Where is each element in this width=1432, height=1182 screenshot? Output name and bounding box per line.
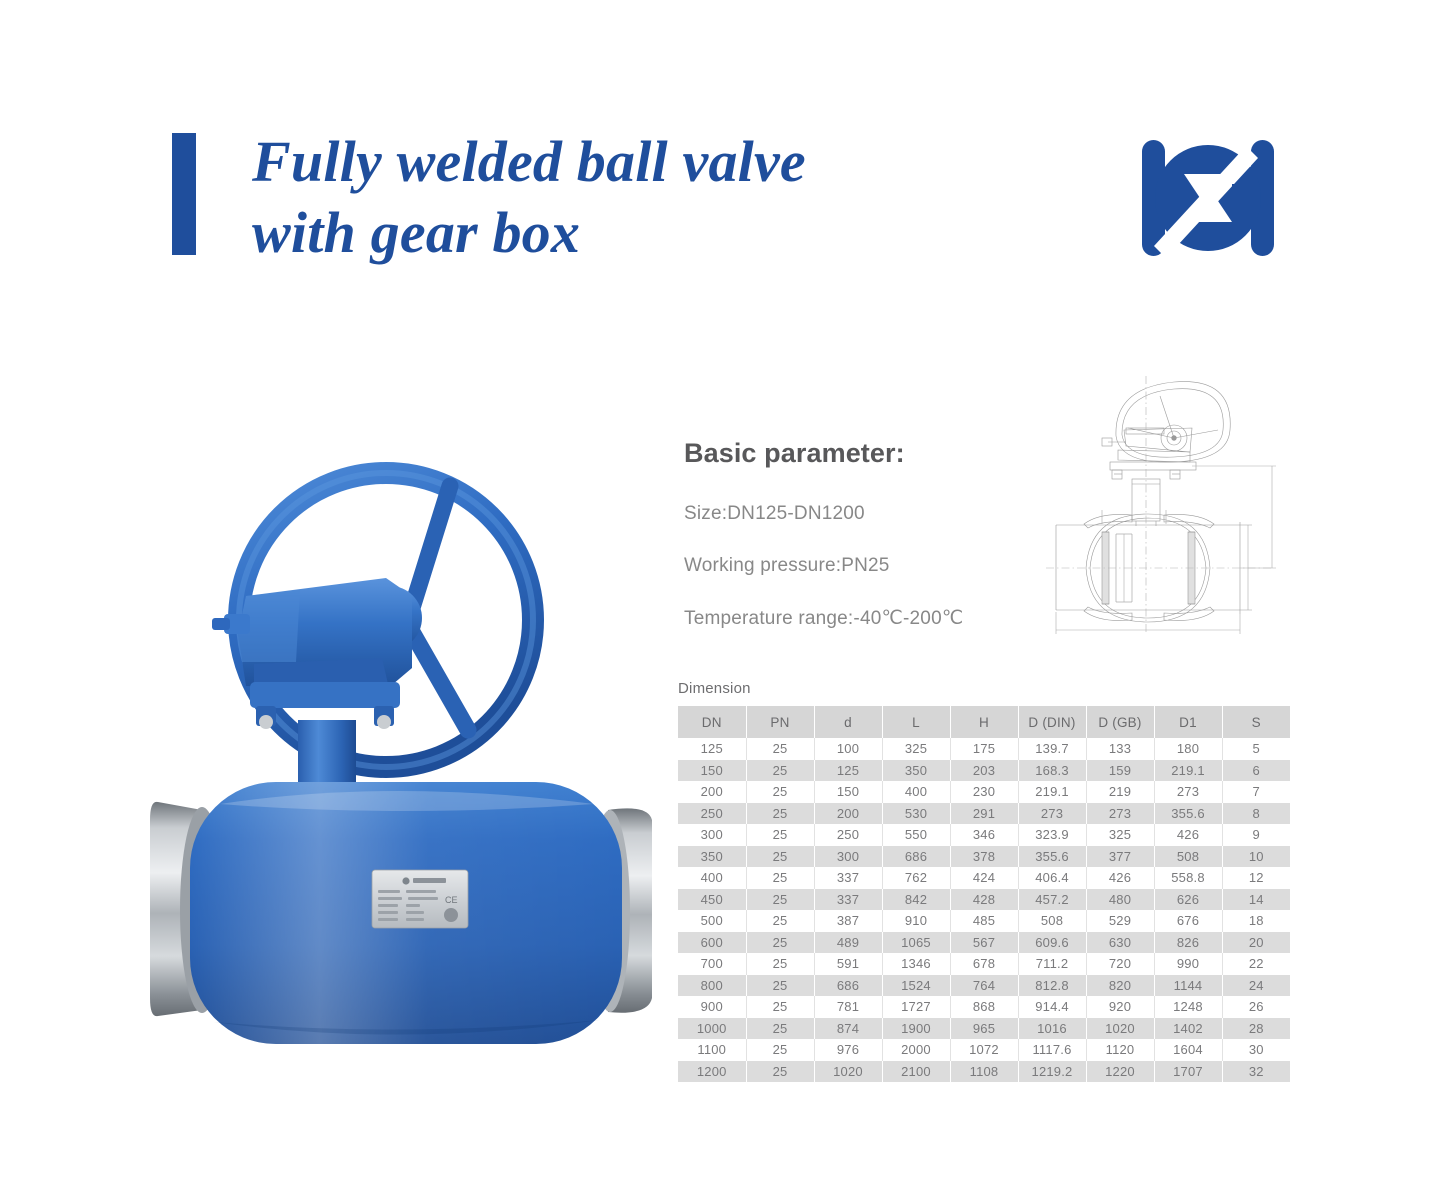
table-cell: 150 [678,760,746,782]
table-cell: 25 [746,760,814,782]
table-cell: 1402 [1154,1018,1222,1040]
table-cell: 630 [1086,932,1154,954]
table-cell: 1707 [1154,1061,1222,1083]
table-cell: 25 [746,1018,814,1040]
table-cell: 350 [882,760,950,782]
column-header-h: H [950,706,1018,738]
table-cell: 25 [746,975,814,997]
table-cell: 300 [678,824,746,846]
table-cell: 25 [746,846,814,868]
table-row: 100025874190096510161020140228 [678,1018,1290,1040]
table-cell: 200 [678,781,746,803]
parameter-working-pressure: Working pressure:PN25 [684,555,1084,577]
table-cell: 25 [746,738,814,760]
page-title-line-1: Fully welded ball valve [252,127,1072,198]
table-header-row: DN PN d L H D (DIN) D (GB) D1 S [678,706,1290,738]
table-cell: 346 [950,824,1018,846]
table-cell: 686 [882,846,950,868]
table-cell: 10 [1222,846,1290,868]
table-cell: 508 [1018,910,1086,932]
table-cell: 426 [1154,824,1222,846]
table-cell: 567 [950,932,1018,954]
column-header-pn: PN [746,706,814,738]
column-header-s: S [1222,706,1290,738]
table-cell: 910 [882,910,950,932]
dimension-table: DN PN d L H D (DIN) D (GB) D1 S 12525100… [678,706,1290,1082]
product-photo: CE [150,400,660,1060]
drawing-centerlines [1046,376,1272,634]
table-cell: 219.1 [1154,760,1222,782]
table-cell: 325 [882,738,950,760]
table-cell: 378 [950,846,1018,868]
table-cell: 558.8 [1154,867,1222,889]
table-cell: 626 [1154,889,1222,911]
table-cell: 1144 [1154,975,1222,997]
table-cell: 426 [1086,867,1154,889]
table-cell: 1120 [1086,1039,1154,1061]
table-cell: 820 [1086,975,1154,997]
table-cell: 900 [678,996,746,1018]
table-cell: 273 [1018,803,1086,825]
table-cell: 1000 [678,1018,746,1040]
technical-drawing [1040,372,1340,644]
table-cell: 1100 [678,1039,746,1061]
table-cell: 450 [678,889,746,911]
table-cell: 133 [1086,738,1154,760]
table-cell: 485 [950,910,1018,932]
table-cell: 965 [950,1018,1018,1040]
table-cell: 25 [746,824,814,846]
table-cell: 428 [950,889,1018,911]
table-cell: 32 [1222,1061,1290,1083]
table-cell: 22 [1222,953,1290,975]
table-row: 20025150400230219.12192737 [678,781,1290,803]
table-row: 700255911346678711.272099022 [678,953,1290,975]
table-cell: 480 [1086,889,1154,911]
table-cell: 868 [950,996,1018,1018]
table-cell: 337 [814,889,882,911]
column-header-d-bore: d [814,706,882,738]
table-cell: 377 [1086,846,1154,868]
table-row: 35025300686378355.637750810 [678,846,1290,868]
table-cell: 25 [746,910,814,932]
table-cell: 781 [814,996,882,1018]
table-row: 110025976200010721117.61120160430 [678,1039,1290,1061]
table-cell: 6 [1222,760,1290,782]
table-cell: 1604 [1154,1039,1222,1061]
table-cell: 125 [814,760,882,782]
table-cell: 168.3 [1018,760,1086,782]
table-cell: 150 [814,781,882,803]
drawing-handwheel [1116,382,1230,463]
table-cell: 25 [746,932,814,954]
table-cell: 591 [814,953,882,975]
table-cell: 25 [746,781,814,803]
table-cell: 678 [950,953,1018,975]
table-cell: 300 [814,846,882,868]
table-cell: 337 [814,867,882,889]
table-cell: 508 [1154,846,1222,868]
table-cell: 5 [1222,738,1290,760]
table-cell: 400 [882,781,950,803]
column-header-d-din: D (DIN) [1018,706,1086,738]
table-cell: 355.6 [1018,846,1086,868]
table-row: 30025250550346323.93254269 [678,824,1290,846]
table-row: 25025200530291273273355.68 [678,803,1290,825]
title-accent-bar [172,133,196,255]
table-row: 600254891065567609.663082620 [678,932,1290,954]
table-cell: 25 [746,1061,814,1083]
table-cell: 18 [1222,910,1290,932]
table-cell: 26 [1222,996,1290,1018]
table-cell: 355.6 [1154,803,1222,825]
table-cell: 24 [1222,975,1290,997]
table-cell: 325 [1086,824,1154,846]
table-cell: 529 [1086,910,1154,932]
table-cell: 711.2 [1018,953,1086,975]
table-cell: 500 [678,910,746,932]
table-cell: 676 [1154,910,1222,932]
table-cell: 489 [814,932,882,954]
table-cell: 30 [1222,1039,1290,1061]
table-row: 12525100325175139.71331805 [678,738,1290,760]
table-cell: 550 [882,824,950,846]
table-cell: 8 [1222,803,1290,825]
table-cell: 1727 [882,996,950,1018]
table-cell: 914.4 [1018,996,1086,1018]
table-cell: 9 [1222,824,1290,846]
table-cell: 2000 [882,1039,950,1061]
table-cell: 273 [1086,803,1154,825]
table-row: 1200251020210011081219.21220170732 [678,1061,1290,1083]
table-row: 40025337762424406.4426558.812 [678,867,1290,889]
table-cell: 1020 [1086,1018,1154,1040]
table-cell: 920 [1086,996,1154,1018]
page-title: Fully welded ball valve with gear box [252,127,1072,269]
table-cell: 400 [678,867,746,889]
svg-text:CE: CE [445,895,458,905]
basic-parameter-heading: Basic parameter: [684,438,1084,469]
page-header: Fully welded ball valve with gear box [0,0,1432,300]
table-row: 800256861524764812.8820114424 [678,975,1290,997]
table-cell: 764 [950,975,1018,997]
table-cell: 323.9 [1018,824,1086,846]
table-cell: 1900 [882,1018,950,1040]
table-cell: 1220 [1086,1061,1154,1083]
brand-logo-icon [1128,128,1288,268]
table-cell: 530 [882,803,950,825]
table-cell: 1108 [950,1061,1018,1083]
table-cell: 175 [950,738,1018,760]
table-cell: 387 [814,910,882,932]
table-cell: 125 [678,738,746,760]
table-cell: 2100 [882,1061,950,1083]
table-cell: 1219.2 [1018,1061,1086,1083]
table-cell: 139.7 [1018,738,1086,760]
table-cell: 762 [882,867,950,889]
table-cell: 842 [882,889,950,911]
table-cell: 25 [746,996,814,1018]
column-header-l: L [882,706,950,738]
table-cell: 1200 [678,1061,746,1083]
table-row: 15025125350203168.3159219.16 [678,760,1290,782]
table-cell: 250 [814,824,882,846]
table-cell: 350 [678,846,746,868]
valve-nameplate: CE [372,870,468,928]
table-cell: 826 [1154,932,1222,954]
table-cell: 291 [950,803,1018,825]
table-cell: 100 [814,738,882,760]
table-cell: 1072 [950,1039,1018,1061]
table-cell: 20 [1222,932,1290,954]
table-cell: 700 [678,953,746,975]
table-cell: 406.4 [1018,867,1086,889]
basic-parameter-block: Basic parameter: Size:DN125-DN1200 Worki… [684,438,1084,630]
table-row: 45025337842428457.248062614 [678,889,1290,911]
column-header-dn: DN [678,706,746,738]
table-cell: 1065 [882,932,950,954]
table-cell: 273 [1154,781,1222,803]
table-cell: 25 [746,1039,814,1061]
table-cell: 1016 [1018,1018,1086,1040]
table-cell: 1524 [882,975,950,997]
table-cell: 25 [746,889,814,911]
table-cell: 203 [950,760,1018,782]
table-cell: 1346 [882,953,950,975]
table-cell: 12 [1222,867,1290,889]
table-cell: 230 [950,781,1018,803]
table-cell: 800 [678,975,746,997]
column-header-d-gb: D (GB) [1086,706,1154,738]
table-cell: 7 [1222,781,1290,803]
table-cell: 720 [1086,953,1154,975]
table-cell: 812.8 [1018,975,1086,997]
table-cell: 219.1 [1018,781,1086,803]
table-cell: 874 [814,1018,882,1040]
table-cell: 686 [814,975,882,997]
table-cell: 25 [746,953,814,975]
table-cell: 250 [678,803,746,825]
parameter-size: Size:DN125-DN1200 [684,503,1084,525]
table-cell: 200 [814,803,882,825]
table-cell: 990 [1154,953,1222,975]
table-cell: 25 [746,803,814,825]
page-title-line-2: with gear box [252,198,1072,269]
table-cell: 457.2 [1018,889,1086,911]
parameter-temperature-range: Temperature range:-40℃-200℃ [684,607,1084,630]
table-cell: 28 [1222,1018,1290,1040]
table-row: 5002538791048550852967618 [678,910,1290,932]
table-cell: 1248 [1154,996,1222,1018]
table-cell: 424 [950,867,1018,889]
table-cell: 976 [814,1039,882,1061]
table-cell: 600 [678,932,746,954]
table-cell: 1117.6 [1018,1039,1086,1061]
table-cell: 25 [746,867,814,889]
table-cell: 609.6 [1018,932,1086,954]
table-cell: 219 [1086,781,1154,803]
table-row: 900257811727868914.4920124826 [678,996,1290,1018]
dimension-table-label: Dimension [678,680,1290,697]
table-cell: 180 [1154,738,1222,760]
column-header-d1: D1 [1154,706,1222,738]
dimension-section: Dimension DN PN d L H D (DIN) D (GB) D1 … [678,680,1290,1082]
table-cell: 159 [1086,760,1154,782]
table-cell: 14 [1222,889,1290,911]
table-cell: 1020 [814,1061,882,1083]
